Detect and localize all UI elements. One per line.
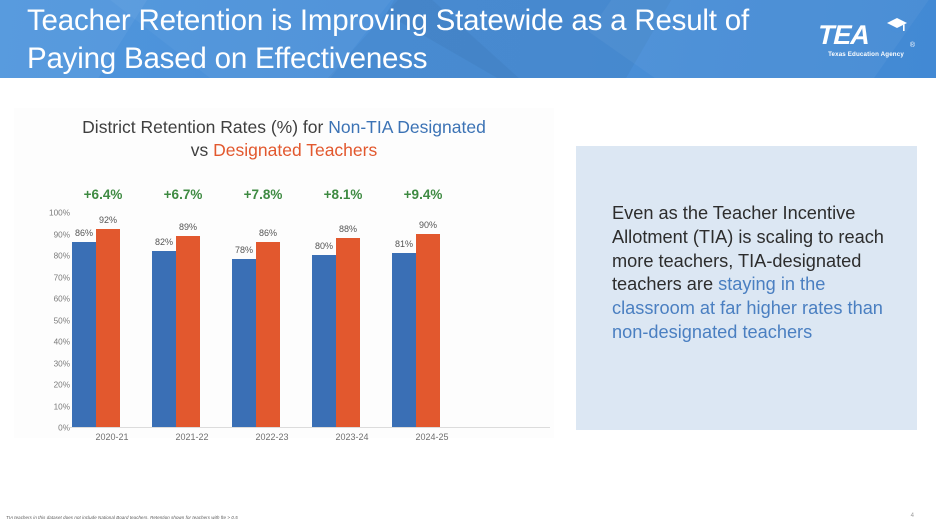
bar-value-label: 78% — [235, 245, 253, 255]
bar-value-label: 81% — [395, 239, 413, 249]
bar-tia: 90% — [416, 234, 440, 428]
y-axis-tick: 40% — [26, 338, 70, 347]
y-axis-tick: 20% — [26, 381, 70, 390]
chart-title-part1: District Retention Rates (%) for — [82, 117, 328, 137]
delta-label: +6.7% — [152, 187, 214, 202]
y-axis-tick: 90% — [26, 230, 70, 239]
callout-text: Even as the Teacher Incentive Allotment … — [612, 202, 892, 345]
tea-logo: TEA ® Texas Education Agency — [818, 20, 914, 64]
y-axis-tick: 100% — [26, 209, 70, 218]
tea-logo-subtitle: Texas Education Agency — [818, 51, 914, 58]
bar-groups: +6.4%86%92%+6.7%82%89%+7.8%78%86%+8.1%80… — [72, 213, 550, 427]
bar-tia: 88% — [336, 238, 360, 427]
bar-value-label: 88% — [339, 224, 357, 234]
bar-value-label: 80% — [315, 241, 333, 251]
bar-group: +8.1%80%88% — [312, 213, 392, 427]
x-axis-tick: 2020-21 — [72, 432, 152, 442]
y-axis-tick: 60% — [26, 295, 70, 304]
chart-title-vs: vs — [191, 140, 213, 160]
page-number: 4 — [911, 513, 914, 519]
bar-nontia: 78% — [232, 259, 256, 427]
y-axis-tick: 70% — [26, 273, 70, 282]
x-axis-line — [68, 427, 550, 428]
bar-value-label: 86% — [75, 228, 93, 238]
bar-group: +7.8%78%86% — [232, 213, 312, 427]
callout-panel: Even as the Teacher Incentive Allotment … — [576, 146, 917, 430]
bar-tia: 89% — [176, 236, 200, 427]
bar-group: +6.4%86%92% — [72, 213, 152, 427]
bar-value-label: 90% — [419, 220, 437, 230]
x-axis-tick: 2022-23 — [232, 432, 312, 442]
bar-group: +9.4%81%90% — [392, 213, 472, 427]
bar-tia: 92% — [96, 229, 120, 427]
chart-title-nontia: Non-TIA Designated — [328, 117, 486, 137]
slide-header: Teacher Retention is Improving Statewide… — [0, 0, 936, 78]
chart-title-tia: Designated Teachers — [213, 140, 377, 160]
registered-mark: ® — [910, 42, 915, 49]
x-axis-tick: 2021-22 — [152, 432, 232, 442]
bar-nontia: 82% — [152, 251, 176, 427]
bar-tia: 86% — [256, 242, 280, 427]
delta-label: +6.4% — [72, 187, 134, 202]
graduation-cap-icon — [886, 17, 908, 37]
y-axis-tick: 0% — [26, 424, 70, 433]
bar-value-label: 92% — [99, 215, 117, 225]
y-axis-tick: 30% — [26, 359, 70, 368]
bar-nontia: 81% — [392, 253, 416, 427]
x-axis-labels: 2020-212021-222022-232023-242024-25 — [72, 432, 550, 442]
slide-title: Teacher Retention is Improving Statewide… — [27, 2, 797, 78]
bar-value-label: 82% — [155, 237, 173, 247]
delta-label: +8.1% — [312, 187, 374, 202]
slide: Teacher Retention is Improving Statewide… — [0, 0, 936, 522]
y-axis-tick: 50% — [26, 316, 70, 325]
y-axis: 100%90%80%70%60%50%40%30%20%10%0% — [26, 213, 70, 428]
bar-group: +6.7%82%89% — [152, 213, 232, 427]
footnote: TIA teachers in this dataset does not in… — [6, 515, 238, 520]
x-axis-tick: 2024-25 — [392, 432, 472, 442]
y-axis-tick: 80% — [26, 252, 70, 261]
delta-label: +9.4% — [392, 187, 454, 202]
retention-bar-chart: District Retention Rates (%) for Non-TIA… — [14, 108, 554, 438]
x-axis-tick: 2023-24 — [312, 432, 392, 442]
chart-title: District Retention Rates (%) for Non-TIA… — [14, 116, 554, 162]
bar-nontia: 80% — [312, 255, 336, 427]
y-axis-tick: 10% — [26, 402, 70, 411]
chart-plot-area: 100%90%80%70%60%50%40%30%20%10%0% +6.4%8… — [72, 213, 550, 428]
bar-nontia: 86% — [72, 242, 96, 427]
delta-label: +7.8% — [232, 187, 294, 202]
bar-value-label: 89% — [179, 222, 197, 232]
bar-value-label: 86% — [259, 228, 277, 238]
tea-logo-mark: TEA ® — [818, 20, 914, 50]
